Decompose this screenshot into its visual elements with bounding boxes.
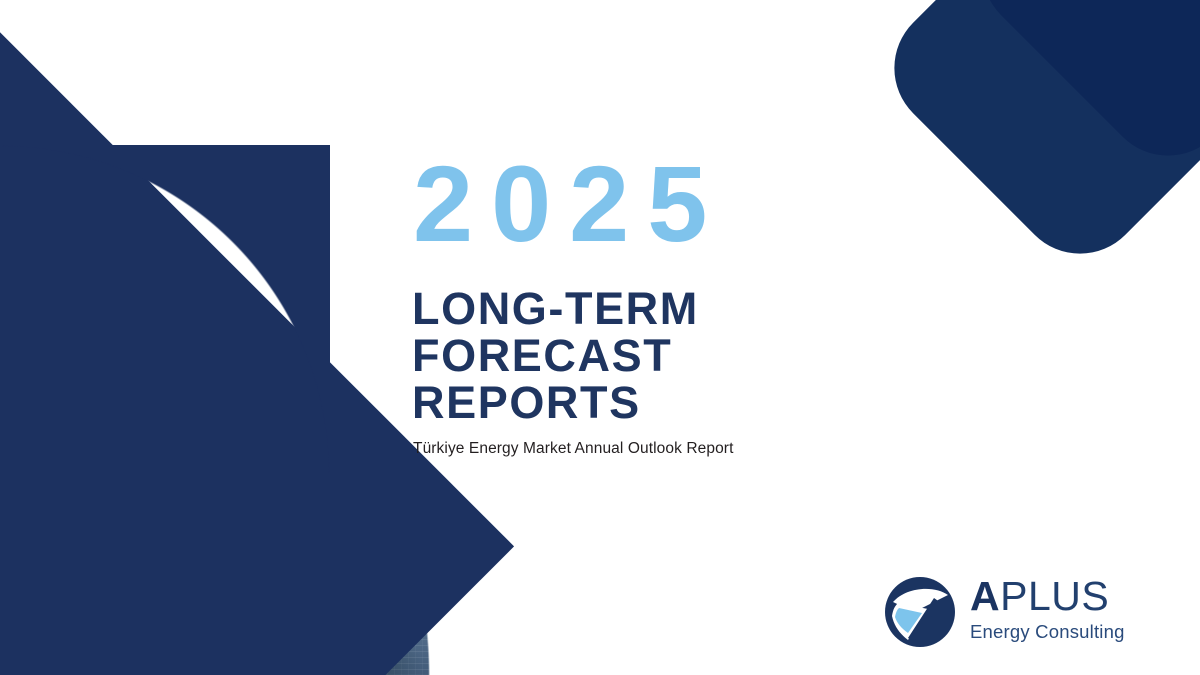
year-label: 2025: [413, 150, 725, 258]
logo-brand-name: APLUS: [970, 576, 1140, 617]
page-title: LONG-TERM FORECAST REPORTS: [412, 286, 699, 426]
aplus-logo: APLUS Energy Consulting: [884, 572, 1134, 652]
headline-line-1: LONG-TERM: [412, 286, 699, 333]
logo-wordmark: APLUS Energy Consulting: [970, 576, 1140, 643]
aplus-circle-arrow-mark: [884, 576, 956, 648]
logo-brand-rest: PLUS: [1000, 573, 1109, 619]
navy-band-rounded-cap: [0, 145, 330, 475]
top-right-decoration: [870, 0, 1200, 330]
headline-line-2: FORECAST: [412, 333, 699, 380]
logo-tagline: Energy Consulting: [970, 621, 1140, 643]
page-subtitle: Türkiye Energy Market Annual Outlook Rep…: [413, 440, 733, 458]
title-slide: 2025 LONG-TERM FORECAST REPORTS Türkiye …: [0, 0, 1200, 675]
logo-brand-initial: A: [970, 573, 1000, 619]
headline-line-3: REPORTS: [412, 380, 699, 427]
